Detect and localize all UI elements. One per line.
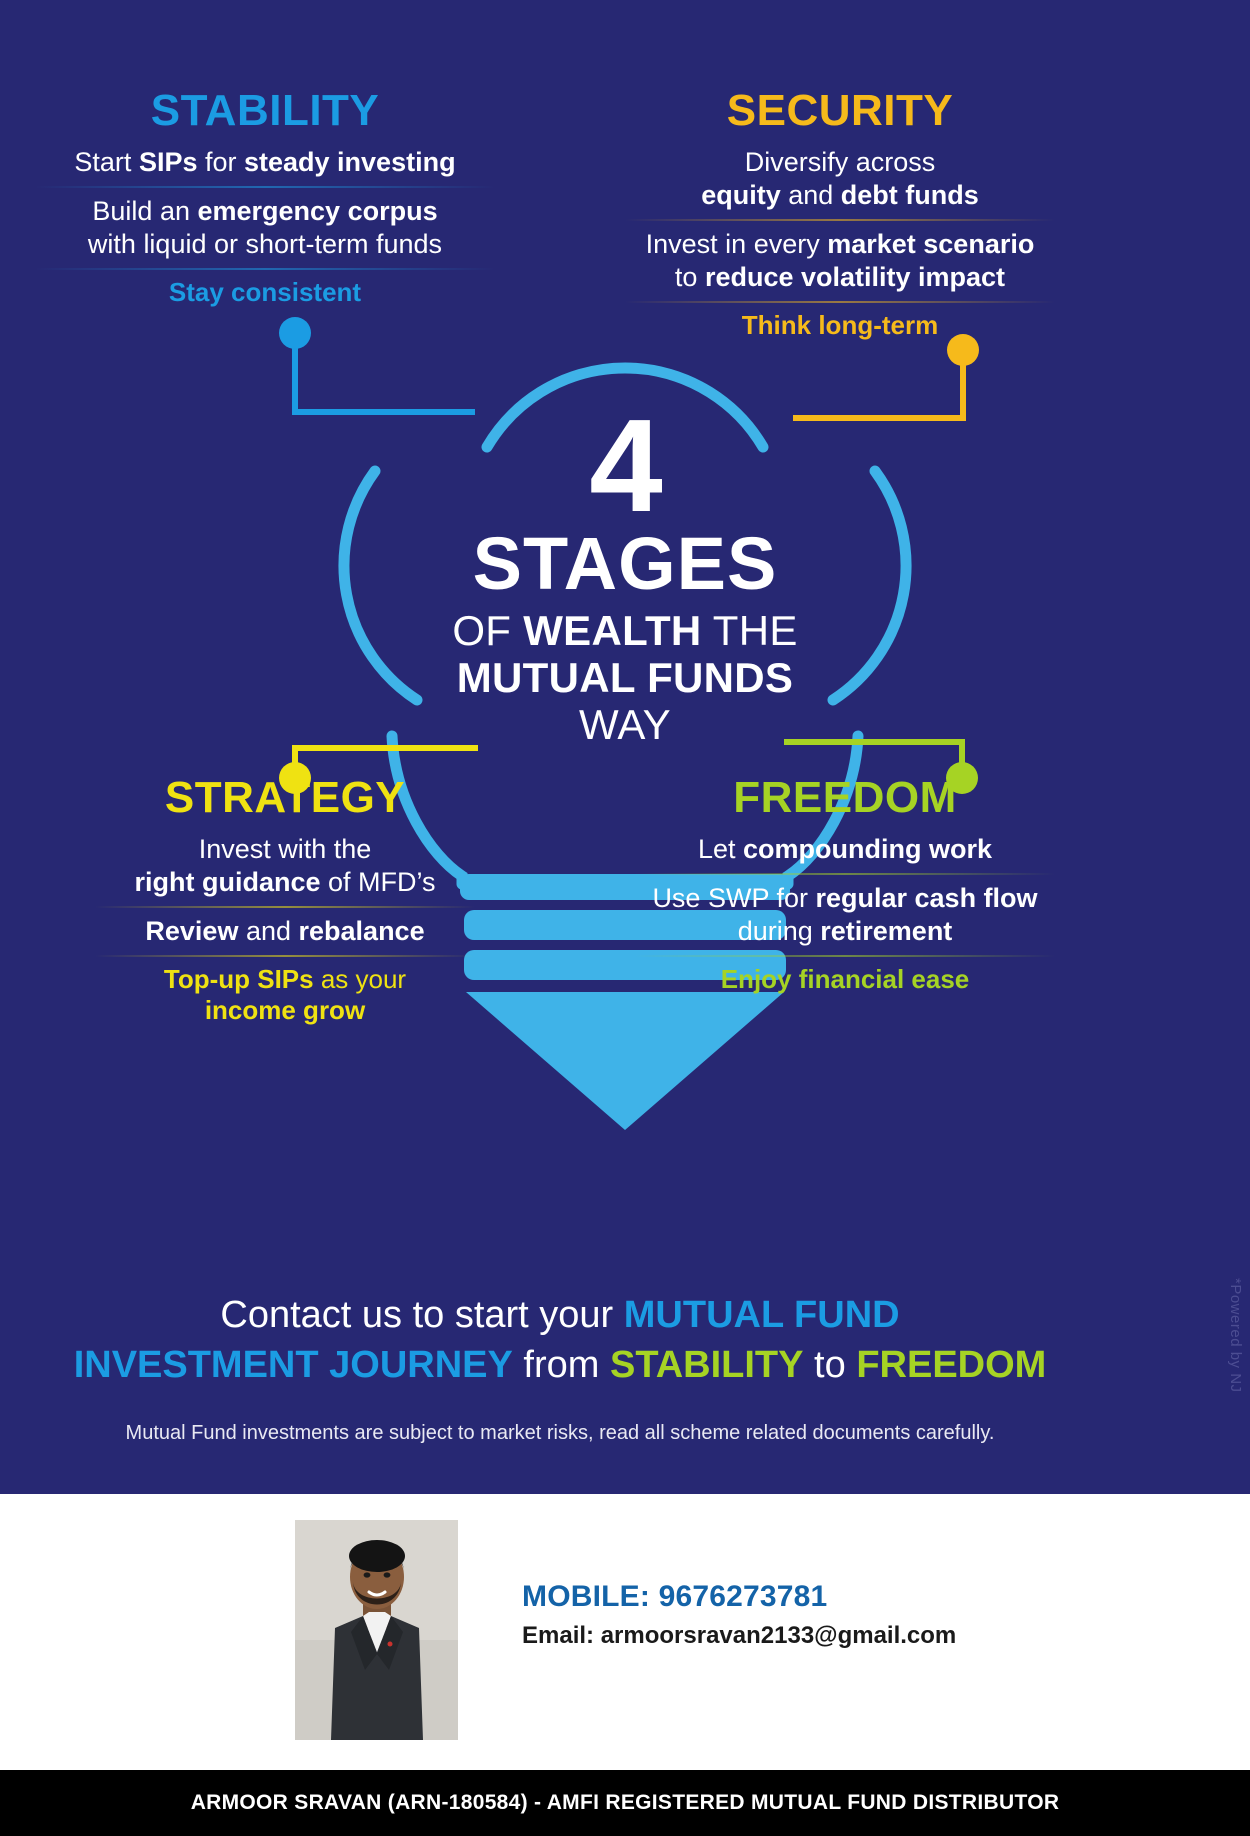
security-b2l2-pre: to <box>675 262 705 292</box>
powered-by-label: *Powered by NJ <box>1227 1278 1244 1393</box>
footer-text: ARMOOR SRAVAN (ARN-180584) - AMFI REGIST… <box>191 1791 1060 1815</box>
title-the: THE <box>702 607 798 654</box>
freedom-block1: Let compounding work <box>635 833 1055 866</box>
title-of: OF <box>452 607 523 654</box>
strategy-right-guidance: right guidance <box>134 867 320 897</box>
quadrant-strategy: STRATEGY Invest with the right guidance … <box>95 775 475 1026</box>
cta-freedom: FREEDOM <box>856 1344 1046 1386</box>
stability-block2-line1: Build an emergency corpus <box>35 195 495 228</box>
mobile-number[interactable]: MOBILE: 9676273781 <box>522 1580 956 1614</box>
stages-word: STAGES <box>325 528 925 601</box>
quadrant-heading-strategy: STRATEGY <box>95 775 475 821</box>
strategy-of-mfds: of MFD’s <box>321 867 436 897</box>
stability-b2l1-bold: emergency corpus <box>197 196 437 226</box>
connector-stability <box>279 317 475 412</box>
title-line-4: MUTUAL FUNDS <box>325 654 925 701</box>
freedom-b2l2-bold: retirement <box>820 916 952 946</box>
cta-part1: Contact us to start your <box>220 1294 623 1336</box>
security-tagline: Think long-term <box>625 310 1055 341</box>
quadrant-security: SECURITY Diversify across equity and deb… <box>625 88 1055 341</box>
security-b2l1-bold: market scenario <box>827 229 1034 259</box>
contact-strip: MOBILE: 9676273781 Email: armoorsravan21… <box>0 1494 1250 1770</box>
stability-block2-line2: with liquid or short-term funds <box>35 228 495 261</box>
quadrant-heading-freedom: FREEDOM <box>635 775 1055 821</box>
security-and: and <box>781 180 841 210</box>
strategy-tagline-line2: income grow <box>95 995 475 1026</box>
security-debt-funds: debt funds <box>841 180 979 210</box>
center-title: 4 STAGES OF WEALTH THE MUTUAL FUNDS WAY <box>325 405 925 748</box>
quadrant-heading-security: SECURITY <box>625 88 1055 134</box>
footer-bar: ARMOOR SRAVAN (ARN-180584) - AMFI REGIST… <box>0 1770 1250 1836</box>
disclaimer-text: Mutual Fund investments are subject to m… <box>60 1422 1060 1445</box>
strategy-topup-sips: Top-up SIPs <box>164 964 314 994</box>
freedom-compounding-work: compounding work <box>743 834 992 864</box>
cta-from: from <box>513 1344 610 1386</box>
cta-to: to <box>804 1344 857 1386</box>
strategy-rebalance: rebalance <box>299 916 425 946</box>
advisor-photo <box>295 1520 458 1740</box>
freedom-b2l2-pre: during <box>738 916 821 946</box>
freedom-b2l1-bold: regular cash flow <box>815 883 1037 913</box>
cta-stability: STABILITY <box>610 1344 804 1386</box>
strategy-block1-line2: right guidance of MFD’s <box>95 866 475 899</box>
security-block2-line2: to reduce volatility impact <box>625 261 1055 294</box>
title-line-5: WAY <box>325 701 925 748</box>
freedom-tagline: Enjoy financial ease <box>635 964 1055 995</box>
strategy-tagline: Top-up SIPs as your income grow <box>95 964 475 1026</box>
security-block1-line1: Diversify across <box>625 146 1055 179</box>
contact-details: MOBILE: 9676273781 Email: armoorsravan21… <box>522 1580 956 1650</box>
cta-text: Contact us to start your MUTUAL FUND INV… <box>60 1290 1060 1390</box>
strategy-review: Review <box>145 916 238 946</box>
strategy-and: and <box>238 916 298 946</box>
stability-tagline: Stay consistent <box>35 277 495 308</box>
strategy-block2: Review and rebalance <box>95 915 475 948</box>
quadrant-stability: STABILITY Start SIPs for steady investin… <box>35 88 495 308</box>
title-wealth: WEALTH <box>523 607 701 654</box>
strategy-as-your: as your <box>314 964 407 994</box>
freedom-b2l1-pre: Use SWP for <box>652 883 815 913</box>
strategy-block1-line1: Invest with the <box>95 833 475 866</box>
security-block2-line1: Invest in every market scenario <box>625 228 1055 261</box>
security-b2l1-pre: Invest in every <box>646 229 828 259</box>
security-equity: equity <box>701 180 781 210</box>
title-line-3: OF WEALTH THE <box>325 607 925 654</box>
quadrant-heading-stability: STABILITY <box>35 88 495 134</box>
stability-b2l1-pre: Build an <box>92 196 197 226</box>
freedom-let: Let <box>698 834 743 864</box>
security-b2l2-bold: reduce volatility impact <box>705 262 1005 292</box>
stability-block1: Start SIPs for steady investing <box>35 146 495 179</box>
email-address[interactable]: Email: armoorsravan2133@gmail.com <box>522 1622 956 1650</box>
infographic-poster: 4 STAGES OF WEALTH THE MUTUAL FUNDS WAY … <box>0 0 1250 1494</box>
freedom-block2-line1: Use SWP for regular cash flow <box>635 882 1055 915</box>
freedom-block2-line2: during retirement <box>635 915 1055 948</box>
cta-investment-journey: INVESTMENT JOURNEY <box>74 1344 513 1386</box>
security-block1-line2: equity and debt funds <box>625 179 1055 212</box>
quadrant-freedom: FREEDOM Let compounding work Use SWP for… <box>635 775 1055 995</box>
stage-count: 4 <box>325 405 925 526</box>
cta-mutual-fund: MUTUAL FUND <box>624 1294 900 1336</box>
strategy-tagline-line1: Top-up SIPs as your <box>95 964 475 995</box>
